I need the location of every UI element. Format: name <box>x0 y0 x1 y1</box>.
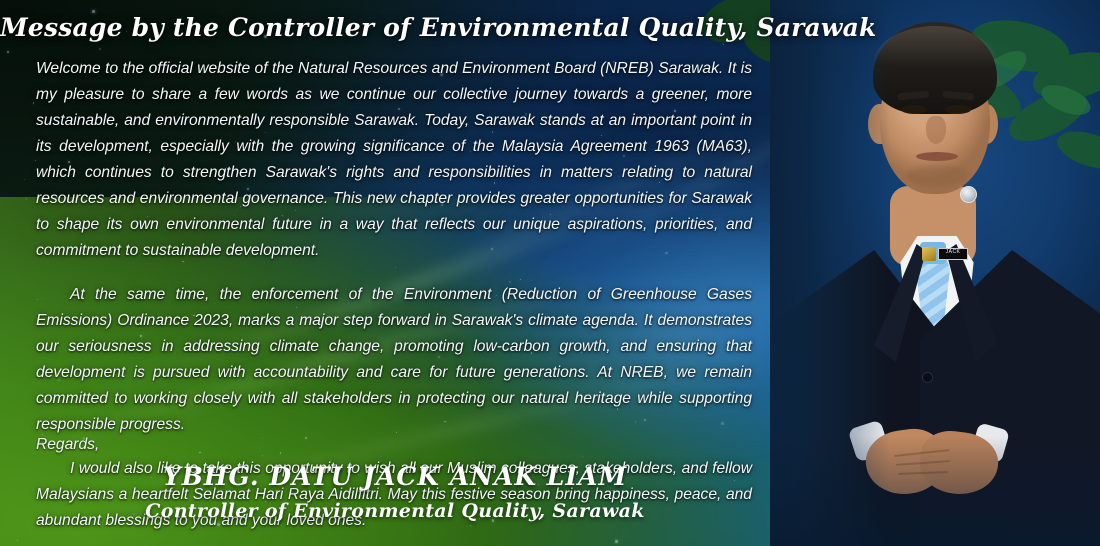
portrait-eye-left <box>901 105 927 114</box>
portrait-name-badge: JACK <box>922 246 968 262</box>
portrait-chin-shadow <box>906 165 968 187</box>
portrait-lapel-pin <box>960 186 977 203</box>
portrait-jacket-button <box>922 372 933 383</box>
message-banner: JACK Message by the Controller of Enviro… <box>0 0 1100 546</box>
page-title: Message by the Controller of Environment… <box>0 12 790 44</box>
portrait-mouth <box>916 152 958 161</box>
portrait-bottom-fade <box>770 436 1100 546</box>
paragraph-2: At the same time, the enforcement of the… <box>36 282 752 438</box>
portrait-eye-right <box>945 105 971 114</box>
paragraph-1: Welcome to the official website of the N… <box>36 56 752 264</box>
badge-crest-icon <box>922 247 936 261</box>
closing-salutation: Regards, <box>36 436 99 454</box>
portrait-nose <box>926 116 946 144</box>
badge-name-text: JACK <box>940 249 966 255</box>
controller-portrait: JACK <box>770 0 1100 546</box>
portrait-hair-highlight <box>873 26 997 66</box>
signature-role: Controller of Environmental Quality, Sar… <box>0 498 790 524</box>
signature-name: YBHG. DATU JACK ANAK LIAM <box>0 462 790 492</box>
message-content: Message by the Controller of Environment… <box>0 0 790 546</box>
